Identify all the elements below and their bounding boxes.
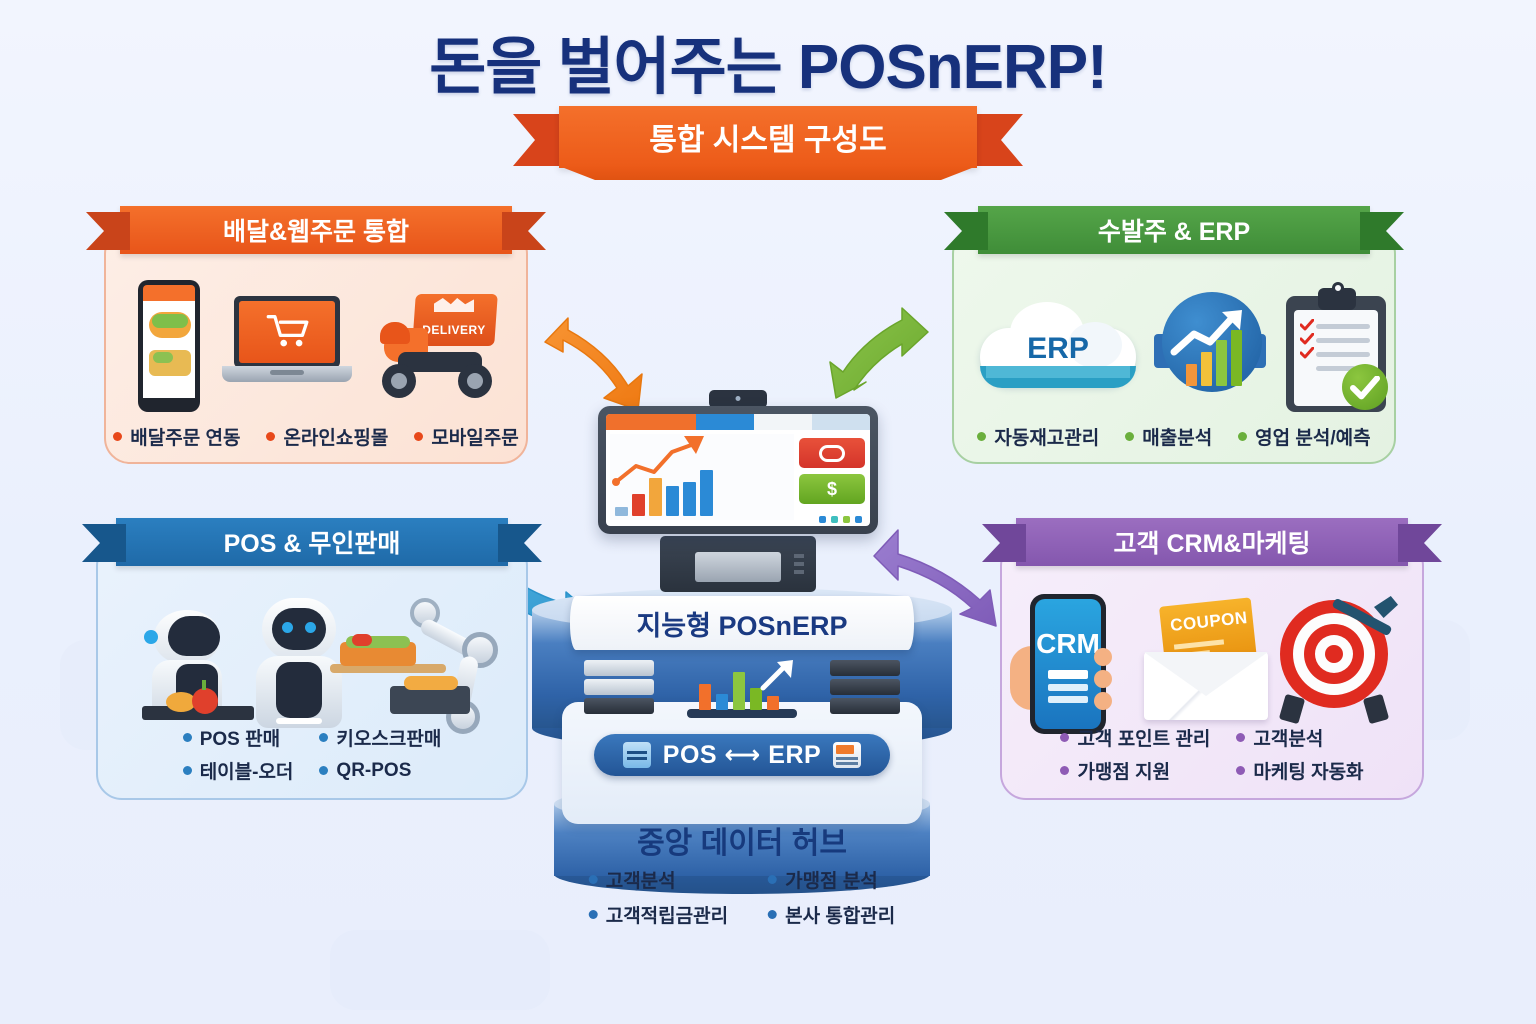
- bullet-label: 매출분석: [1142, 423, 1212, 450]
- panel-delivery-bullets: 배달주문 연동 온라인쇼핑몰 모바일주문: [106, 423, 526, 450]
- bullet-item: 고객적립금관리: [589, 901, 728, 928]
- terminal-status-leds: [819, 516, 862, 523]
- scooter-label: DELIVERY: [418, 322, 490, 338]
- hub-banner: 지능형 POSnERP: [570, 596, 914, 650]
- bullet-item: 가맹점 분석: [768, 866, 895, 893]
- bullet-label: 키오스크판매: [336, 724, 441, 751]
- panel-crm-title: 고객 CRM&마케팅: [1114, 524, 1311, 560]
- bullet-item: POS 판매: [183, 724, 294, 751]
- erp-document-icon: [833, 742, 861, 768]
- panel-pos-bullets: POS 판매 키오스크판매 테이블-오더 QR-POS: [98, 724, 526, 784]
- banner-tail-left: [982, 524, 1026, 562]
- service-robot-icon: [142, 610, 238, 736]
- bullet-label: QR-POS: [336, 760, 411, 782]
- bullet-item: 키오스크판매: [319, 724, 441, 751]
- bullet-label: 모바일주문: [431, 423, 518, 450]
- bullet-item: 마케팅 자동화: [1236, 757, 1363, 784]
- panel-crm-art: CRM COUPON: [1002, 586, 1422, 744]
- panel-crm[interactable]: CRM COUPON: [1000, 540, 1424, 800]
- cloud-label: ERP: [976, 326, 1140, 372]
- bullet-dot-icon: [414, 432, 423, 441]
- bullet-dot-icon: [1236, 766, 1245, 775]
- bullet-label: 온라인쇼핑몰: [283, 423, 388, 450]
- panel-pos-body: POS 판매 키오스크판매 테이블-오더 QR-POS: [98, 542, 526, 798]
- smartphone-food-icon: [138, 280, 200, 412]
- bullet-dot-icon: [1238, 432, 1247, 441]
- pos-document-icon: [623, 742, 651, 768]
- subtitle-ribbon: 통합 시스템 구성도: [513, 106, 1023, 178]
- bullet-item: 가맹점 지원: [1060, 757, 1210, 784]
- bullet-item: QR-POS: [319, 757, 441, 784]
- bullet-item: 매출분석: [1125, 423, 1212, 450]
- banner-tail-left: [944, 212, 988, 250]
- terminal-screen[interactable]: $: [598, 406, 878, 534]
- ribbon-label: 통합 시스템 구성도: [559, 106, 977, 168]
- banner-tail-left: [82, 524, 126, 562]
- banner-tail-right: [1360, 212, 1404, 250]
- hub-analytics-chart-icon: [687, 662, 797, 718]
- bullet-dot-icon: [183, 733, 192, 742]
- bullet-item: 자동재고관리: [977, 423, 1099, 450]
- pos-erp-label: POS ⟷ ERP: [663, 740, 821, 770]
- pos-erp-link-pill[interactable]: POS ⟷ ERP: [594, 734, 890, 776]
- bg-decor-3: [330, 930, 550, 1010]
- bullet-label: 고객적립금관리: [606, 901, 728, 928]
- panel-pos-title: POS & 무인판매: [224, 524, 401, 560]
- bullet-label: 가맹점 분석: [785, 866, 878, 893]
- bullet-dot-icon: [319, 766, 328, 775]
- bullet-label: POS 판매: [200, 724, 280, 751]
- dashboard-chart: [610, 434, 794, 520]
- dashboard-card-button[interactable]: [799, 438, 865, 468]
- bullet-item: 배달주문 연동: [113, 423, 240, 450]
- panel-erp-bullets: 자동재고관리 매출분석 영업 분석/예측: [954, 423, 1394, 450]
- panel-delivery-art: DELIVERY: [106, 274, 526, 424]
- pos-terminal[interactable]: $: [598, 390, 878, 600]
- laptop-cart-icon: [222, 296, 352, 406]
- panel-erp[interactable]: ERP: [952, 228, 1396, 464]
- panel-erp-body: ERP: [954, 230, 1394, 462]
- banner-tail-right: [502, 212, 546, 250]
- bullet-dot-icon: [977, 432, 986, 441]
- panel-pos-banner: POS & 무인판매: [116, 518, 508, 566]
- clipboard-check-icon: [1286, 286, 1390, 414]
- banner-tail-right: [1398, 524, 1442, 562]
- panel-pos-art: [98, 586, 526, 744]
- bullet-dot-icon: [183, 766, 192, 775]
- panel-delivery-banner: 배달&웹주문 통합: [120, 206, 512, 254]
- page-title: 돈을 벌어주는 POSnERP!: [0, 16, 1536, 106]
- bullet-label: 고객 포인트 관리: [1077, 724, 1210, 751]
- bullet-item: 고객분석: [1236, 724, 1363, 751]
- panel-erp-art: ERP: [954, 274, 1394, 424]
- central-data-hub[interactable]: 지능형 POSnERP POS ⟷ ERP 중앙 데이터 허브 고객분석: [492, 588, 992, 918]
- bullet-dot-icon: [768, 910, 777, 919]
- terminal-dashboard: $: [606, 414, 870, 526]
- bullet-item: 본사 통합관리: [768, 901, 895, 928]
- hub-title: 중앙 데이터 허브: [492, 818, 992, 862]
- bullet-dot-icon: [1060, 766, 1069, 775]
- bullet-item: 테이블-오더: [183, 757, 294, 784]
- server-rack-left-icon: [584, 660, 654, 717]
- bullet-item: 영업 분석/예측: [1238, 423, 1370, 450]
- bullet-dot-icon: [113, 432, 122, 441]
- bullet-label: 마케팅 자동화: [1253, 757, 1363, 784]
- bullet-dot-icon: [1125, 432, 1134, 441]
- bullet-dot-icon: [1236, 733, 1245, 742]
- erp-cloud-icon: ERP: [976, 298, 1140, 402]
- crm-phone-label: CRM: [1035, 624, 1101, 664]
- hub-bullets: 고객분석 가맹점 분석 고객적립금관리 본사 통합관리: [589, 866, 896, 928]
- bullet-dot-icon: [768, 875, 777, 884]
- arrow-erp-hub: [830, 308, 928, 398]
- bullet-dot-icon: [589, 875, 598, 884]
- banner-tail-right: [498, 524, 542, 562]
- crm-phone-icon: CRM: [1024, 594, 1134, 738]
- panel-pos[interactable]: POS 판매 키오스크판매 테이블-오더 QR-POS: [96, 540, 528, 800]
- panel-crm-body: CRM COUPON: [1002, 542, 1422, 798]
- banner-tail-left: [86, 212, 130, 250]
- growth-chart-icon: [1146, 288, 1274, 412]
- bullet-item: 온라인쇼핑몰: [266, 423, 388, 450]
- dashboard-cash-button[interactable]: $: [799, 474, 865, 504]
- bullet-label: 고객분석: [606, 866, 676, 893]
- bullet-label: 고객분석: [1253, 724, 1323, 751]
- panel-crm-banner: 고객 CRM&마케팅: [1016, 518, 1408, 566]
- panel-erp-title: 수발주 & ERP: [1098, 212, 1250, 248]
- bullet-label: 배달주문 연동: [130, 423, 240, 450]
- panel-crm-bullets: 고객 포인트 관리 고객분석 가맹점 지원 마케팅 자동화: [1002, 724, 1422, 784]
- panel-delivery-body: DELIVERY 배달주문 연동: [106, 230, 526, 462]
- bullet-label: 가맹점 지원: [1077, 757, 1170, 784]
- infographic-canvas: 돈을 벌어주는 POSnERP! 통합 시스템 구성도: [0, 0, 1536, 1024]
- delivery-scooter-icon: DELIVERY: [358, 292, 508, 408]
- panel-delivery[interactable]: DELIVERY 배달주문 연동: [104, 228, 528, 464]
- bullet-label: 자동재고관리: [994, 423, 1099, 450]
- bullet-dot-icon: [266, 432, 275, 441]
- target-dart-icon: [1274, 600, 1398, 734]
- bullet-dot-icon: [1060, 733, 1069, 742]
- panel-erp-banner: 수발주 & ERP: [978, 206, 1370, 254]
- coupon-envelope-icon: COUPON: [1138, 602, 1274, 734]
- bullet-item: 모바일주문: [414, 423, 518, 450]
- dashboard-toolbar: [606, 414, 870, 430]
- receipt-printer-slot: [695, 552, 781, 582]
- bullet-label: 테이블-오더: [200, 757, 294, 784]
- bullet-dot-icon: [589, 910, 598, 919]
- bullet-item: 고객 포인트 관리: [1060, 724, 1210, 751]
- bullet-label: 본사 통합관리: [785, 901, 895, 928]
- bullet-item: 고객분석: [589, 866, 728, 893]
- panel-delivery-title: 배달&웹주문 통합: [223, 212, 409, 248]
- bullet-dot-icon: [319, 733, 328, 742]
- terminal-base: [660, 536, 816, 592]
- bullet-label: 영업 분석/예측: [1255, 423, 1370, 450]
- server-rack-right-icon: [830, 660, 900, 717]
